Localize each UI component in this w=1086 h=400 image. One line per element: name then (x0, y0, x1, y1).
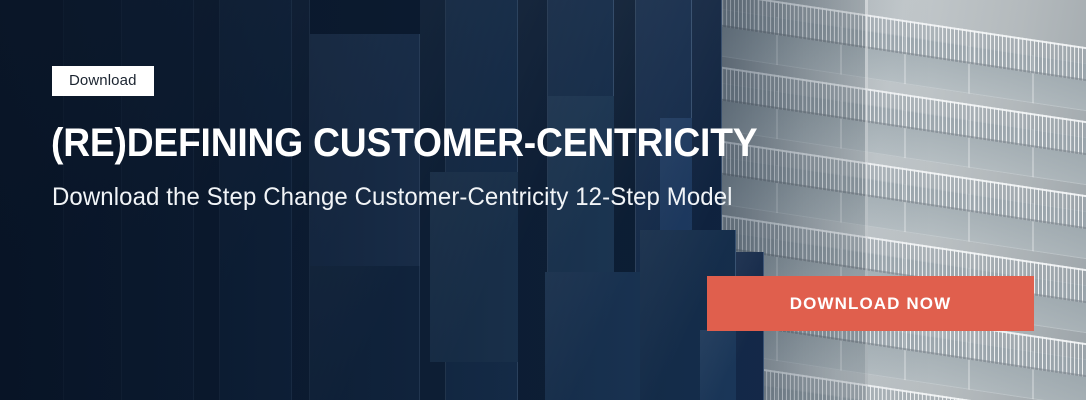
banner-content: Download (RE)DEFINING CUSTOMER-CENTRICIT… (0, 0, 1086, 400)
download-badge: Download (52, 66, 154, 96)
download-now-button[interactable]: DOWNLOAD NOW (707, 276, 1034, 331)
download-now-button-label: DOWNLOAD NOW (790, 294, 951, 314)
page-title: (RE)DEFINING CUSTOMER-CENTRICITY (51, 121, 757, 165)
page-subtitle: Download the Step Change Customer-Centri… (52, 181, 733, 213)
promo-banner: Download (RE)DEFINING CUSTOMER-CENTRICIT… (0, 0, 1086, 400)
